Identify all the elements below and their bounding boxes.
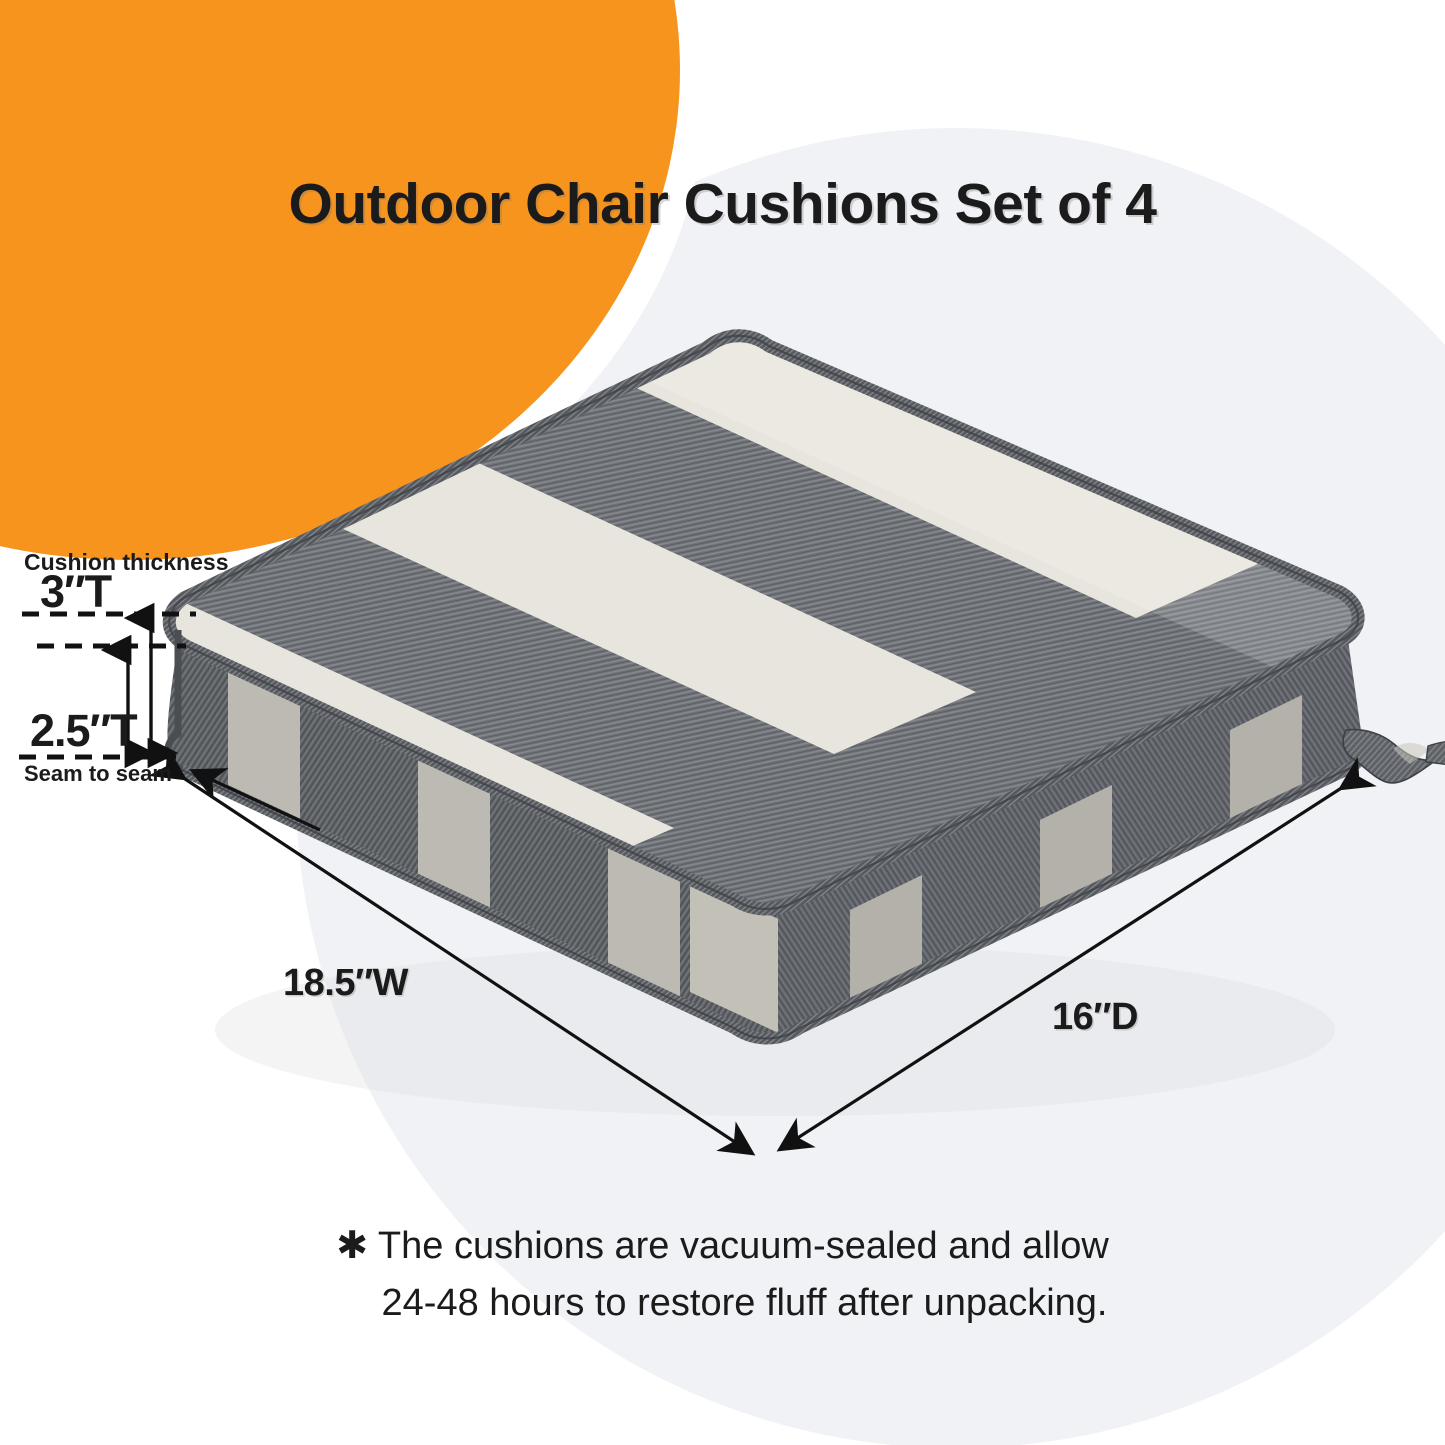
- page-title: Outdoor Chair Cushions Set of 4: [0, 171, 1445, 237]
- label-depth: 16″D: [1052, 996, 1138, 1039]
- label-seam-to-seam: Seam to seam: [24, 761, 172, 787]
- footnote-line-1: ✱ The cushions are vacuum-sealed and all…: [0, 1218, 1445, 1275]
- product-image-cushion: [150, 330, 1410, 1150]
- footnote-line-2: 24-48 hours to restore fluff after unpac…: [0, 1275, 1445, 1332]
- label-width: 18.5″W: [283, 962, 408, 1005]
- label-thickness-overall: 3″T: [40, 566, 111, 618]
- footnote: ✱ The cushions are vacuum-sealed and all…: [0, 1218, 1445, 1332]
- label-thickness-seam: 2.5″T: [30, 705, 137, 757]
- infographic-canvas: Outdoor Chair Cushions Set of 4: [0, 0, 1445, 1445]
